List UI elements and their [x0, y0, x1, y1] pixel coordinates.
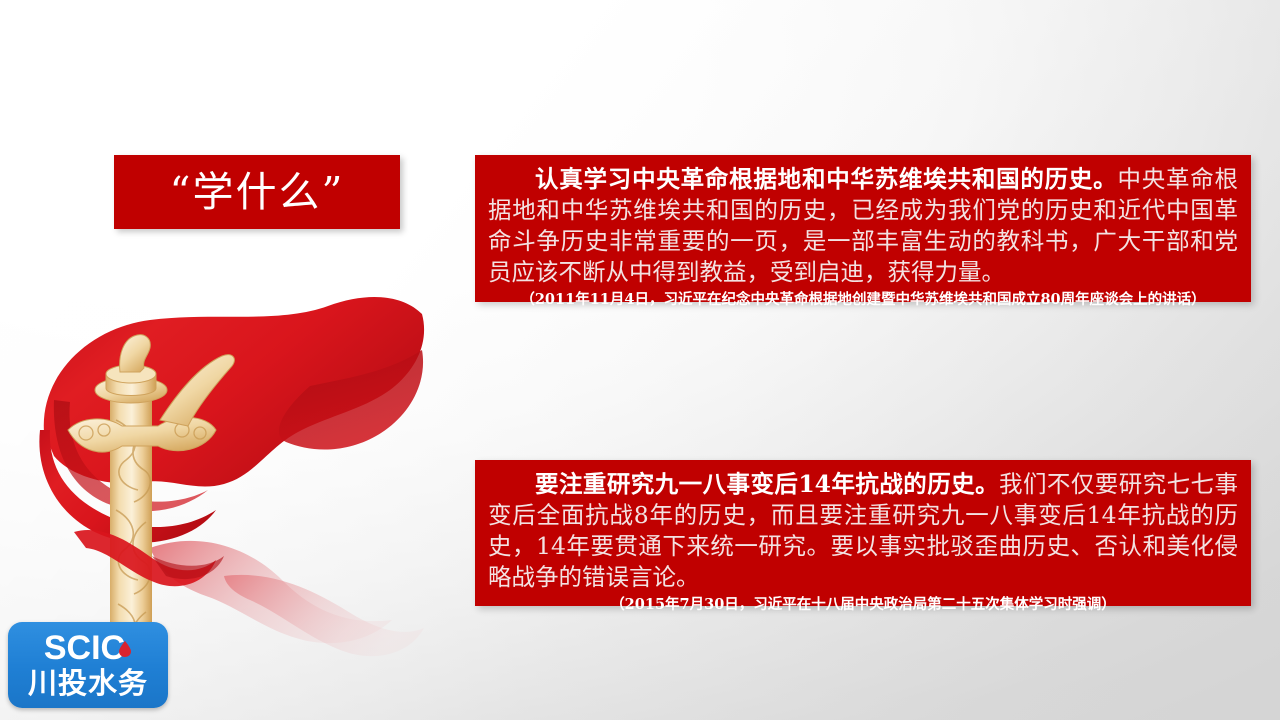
- huabiao-with-red-flag-illustration: [10, 280, 430, 680]
- quote-block-1: 认真学习中央革命根据地和中华苏维埃共和国的历史。中央革命根据地和中华苏维埃共和国…: [475, 155, 1251, 302]
- quote-1-text: 认真学习中央革命根据地和中华苏维埃共和国的历史。中央革命根据地和中华苏维埃共和国…: [488, 164, 1238, 288]
- slide-root: “学什么” 认真学习中央革命根据地和中华苏维埃共和国的历史。中央革命根据地和中华…: [0, 0, 1280, 720]
- quote-block-2: 要注重研究九一八事变后14年抗战的历史。我们不仅要研究七七事变后全面抗战8年的历…: [475, 460, 1251, 606]
- company-logo: SCIC 川投水务: [8, 622, 168, 708]
- logo-chinese-text: 川投水务: [28, 668, 148, 698]
- quote-1-citation: （2011年11月4日，习近平在纪念中央革命根据地创建暨中华苏维埃共和国成立80…: [488, 288, 1238, 309]
- quote-2-citation: （2015年7月30日，习近平在十八届中央政治局第二十五次集体学习时强调）: [488, 593, 1238, 614]
- quote-2-lead: 要注重研究九一八事变后14年抗战的历史。: [535, 470, 999, 498]
- quote-2-text: 要注重研究九一八事变后14年抗战的历史。我们不仅要研究七七事变后全面抗战8年的历…: [488, 469, 1238, 593]
- page-title: “学什么”: [170, 172, 345, 213]
- logo-latin-row: SCIC: [44, 631, 132, 665]
- quote-1-lead: 认真学习中央革命根据地和中华苏维埃共和国的历史。: [535, 165, 1117, 193]
- water-drop-icon: [118, 641, 132, 655]
- logo-latin-text: SCIC: [44, 631, 125, 665]
- section-title-box: “学什么”: [114, 155, 400, 229]
